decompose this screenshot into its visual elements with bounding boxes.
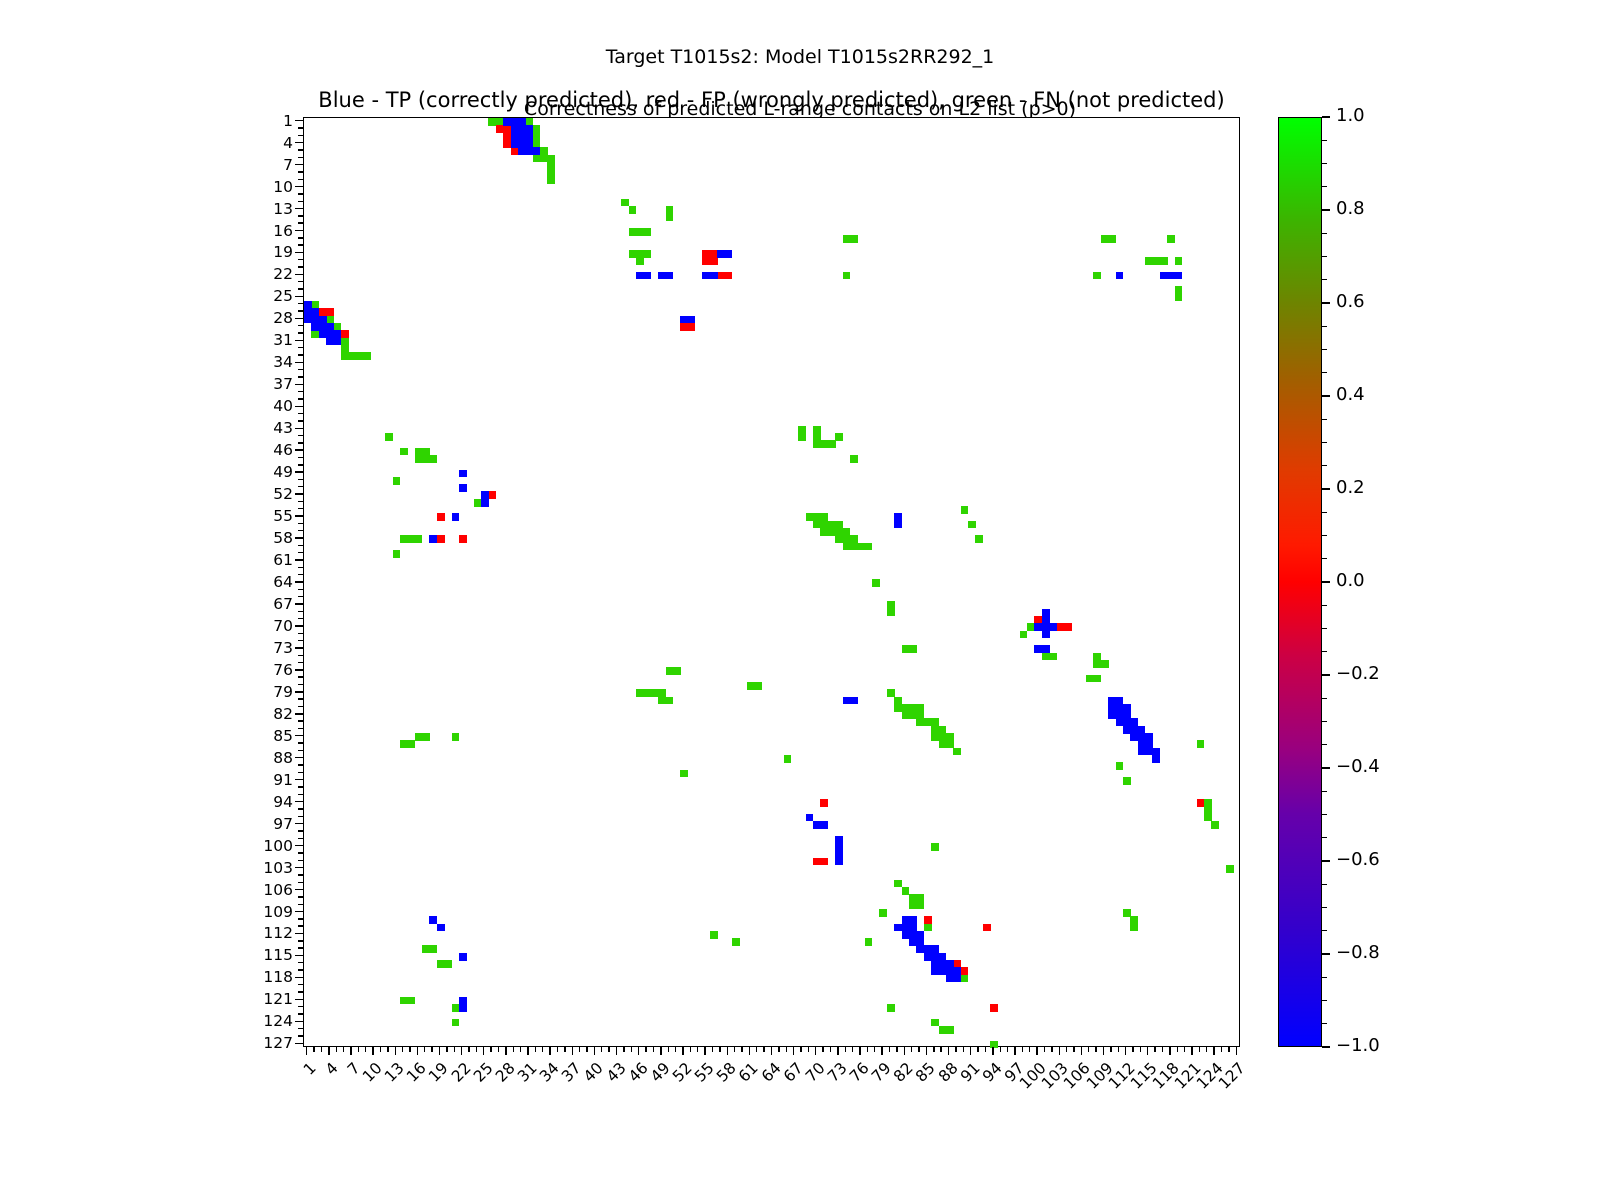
y-axis-label: 118 bbox=[233, 968, 293, 986]
x-tick-39 bbox=[586, 1047, 587, 1052]
contact-cell-fn bbox=[828, 440, 836, 448]
y-axis-label: 79 bbox=[233, 683, 293, 701]
contact-cell-fp bbox=[820, 858, 828, 866]
contact-cell-fn bbox=[422, 733, 430, 741]
colorbar-minor-tick bbox=[1322, 744, 1327, 745]
y-tick-63 bbox=[298, 574, 303, 575]
contact-cell-fn bbox=[415, 535, 423, 543]
x-tick-88 bbox=[948, 1047, 949, 1055]
y-tick-14 bbox=[298, 215, 303, 216]
contact-cell-fn bbox=[643, 250, 651, 258]
contact-cell-fn bbox=[452, 733, 460, 741]
y-axis-label: 22 bbox=[233, 265, 293, 283]
y-tick-6 bbox=[298, 157, 303, 158]
contact-cell-fn bbox=[850, 455, 858, 463]
y-tick-66 bbox=[298, 596, 303, 597]
x-tick-82 bbox=[904, 1047, 905, 1055]
x-tick-30 bbox=[520, 1047, 521, 1052]
x-tick-72 bbox=[830, 1047, 831, 1052]
y-tick-121 bbox=[295, 999, 303, 1000]
contact-cell-fn bbox=[400, 448, 408, 456]
contact-cell-fn bbox=[865, 543, 873, 551]
contact-cell-fn bbox=[754, 682, 762, 690]
x-tick-18 bbox=[431, 1047, 432, 1052]
x-tick-68 bbox=[800, 1047, 801, 1052]
y-tick-117 bbox=[298, 969, 303, 970]
contact-map-plot-area[interactable] bbox=[303, 117, 1240, 1047]
contact-cell-fn bbox=[1020, 631, 1028, 639]
x-tick-15 bbox=[409, 1047, 410, 1052]
y-tick-81 bbox=[298, 706, 303, 707]
y-axis-label: 43 bbox=[233, 419, 293, 437]
y-axis-label: 28 bbox=[233, 309, 293, 327]
y-tick-122 bbox=[298, 1006, 303, 1007]
x-tick-26 bbox=[490, 1047, 491, 1052]
contact-cell-fn bbox=[879, 909, 887, 917]
x-tick-103 bbox=[1059, 1047, 1060, 1055]
y-tick-5 bbox=[298, 149, 303, 150]
contact-cell-fn bbox=[643, 228, 651, 236]
contact-cell-tp bbox=[452, 513, 460, 521]
y-tick-88 bbox=[295, 757, 303, 758]
x-tick-69 bbox=[808, 1047, 809, 1052]
contact-cell-tp bbox=[725, 250, 733, 258]
contact-cells-layer bbox=[304, 118, 1239, 1046]
y-tick-4 bbox=[295, 142, 303, 143]
y-tick-59 bbox=[298, 545, 303, 546]
x-tick-77 bbox=[867, 1047, 868, 1052]
x-tick-73 bbox=[837, 1047, 838, 1055]
y-tick-24 bbox=[298, 288, 303, 289]
x-tick-12 bbox=[387, 1047, 388, 1052]
contact-cell-fp bbox=[1197, 799, 1205, 807]
colorbar-tick bbox=[1322, 953, 1330, 954]
y-tick-36 bbox=[298, 376, 303, 377]
colorbar-minor-tick bbox=[1322, 791, 1327, 792]
x-tick-74 bbox=[845, 1047, 846, 1052]
y-axis-label: 52 bbox=[233, 485, 293, 503]
y-tick-111 bbox=[298, 925, 303, 926]
colorbar-minor-tick bbox=[1322, 930, 1327, 931]
x-tick-86 bbox=[933, 1047, 934, 1052]
x-tick-80 bbox=[889, 1047, 890, 1052]
y-tick-84 bbox=[298, 728, 303, 729]
contact-cell-tp bbox=[1049, 623, 1057, 631]
y-tick-123 bbox=[298, 1013, 303, 1014]
contact-cell-fn bbox=[393, 550, 401, 558]
x-tick-79 bbox=[881, 1047, 882, 1055]
y-tick-86 bbox=[298, 742, 303, 743]
x-tick-13 bbox=[395, 1047, 396, 1055]
contact-cell-tp bbox=[459, 470, 467, 478]
x-tick-6 bbox=[343, 1047, 344, 1052]
colorbar-minor-tick bbox=[1322, 651, 1327, 652]
y-axis-label: 124 bbox=[233, 1012, 293, 1030]
y-tick-97 bbox=[295, 823, 303, 824]
colorbar-minor-tick bbox=[1322, 907, 1327, 908]
y-axis-label: 73 bbox=[233, 639, 293, 657]
colorbar-minor-tick bbox=[1322, 256, 1327, 257]
x-tick-40 bbox=[594, 1047, 595, 1055]
y-tick-30 bbox=[298, 332, 303, 333]
x-tick-37 bbox=[572, 1047, 573, 1055]
contact-cell-fp bbox=[437, 535, 445, 543]
contact-cell-fn bbox=[429, 455, 437, 463]
y-axis-label: 100 bbox=[233, 837, 293, 855]
contact-cell-tp bbox=[850, 697, 858, 705]
y-tick-1 bbox=[295, 120, 303, 121]
y-axis-label: 121 bbox=[233, 990, 293, 1008]
y-tick-26 bbox=[298, 303, 303, 304]
y-tick-87 bbox=[298, 750, 303, 751]
x-tick-91 bbox=[970, 1047, 971, 1055]
x-tick-48 bbox=[653, 1047, 654, 1052]
x-tick-25 bbox=[483, 1047, 484, 1055]
contact-cell-fn bbox=[363, 352, 371, 360]
colorbar-minor-tick bbox=[1322, 512, 1327, 513]
contact-cell-fn bbox=[909, 645, 917, 653]
contact-cell-fn bbox=[931, 843, 939, 851]
y-tick-12 bbox=[298, 201, 303, 202]
colorbar-minor-tick bbox=[1322, 628, 1327, 629]
contact-cell-fp bbox=[961, 967, 969, 975]
colorbar-tick-label: 0.2 bbox=[1336, 477, 1365, 498]
y-tick-108 bbox=[298, 904, 303, 905]
y-axis-label: 97 bbox=[233, 815, 293, 833]
y-tick-38 bbox=[298, 391, 303, 392]
colorbar-minor-tick bbox=[1322, 605, 1327, 606]
x-tick-87 bbox=[940, 1047, 941, 1052]
y-tick-107 bbox=[298, 896, 303, 897]
y-axis-label: 37 bbox=[233, 375, 293, 393]
y-tick-42 bbox=[298, 420, 303, 421]
x-tick-123 bbox=[1206, 1047, 1207, 1052]
y-tick-58 bbox=[295, 537, 303, 538]
y-tick-102 bbox=[298, 860, 303, 861]
y-tick-82 bbox=[295, 713, 303, 714]
y-tick-22 bbox=[295, 274, 303, 275]
x-tick-56 bbox=[712, 1047, 713, 1052]
x-tick-111 bbox=[1118, 1047, 1119, 1052]
y-tick-47 bbox=[298, 457, 303, 458]
x-tick-22 bbox=[461, 1047, 462, 1055]
y-tick-96 bbox=[298, 816, 303, 817]
x-tick-9 bbox=[365, 1047, 366, 1052]
y-tick-76 bbox=[295, 669, 303, 670]
colorbar-minor-tick bbox=[1322, 1000, 1327, 1001]
x-tick-66 bbox=[786, 1047, 787, 1052]
x-tick-2 bbox=[313, 1047, 314, 1052]
contact-cell-fn bbox=[887, 609, 895, 617]
y-axis-label: 127 bbox=[233, 1034, 293, 1052]
contact-cell-tp bbox=[953, 975, 961, 983]
contact-cell-tp bbox=[533, 147, 541, 155]
y-tick-32 bbox=[298, 347, 303, 348]
x-tick-8 bbox=[358, 1047, 359, 1052]
x-tick-76 bbox=[859, 1047, 860, 1055]
contact-cell-fp bbox=[710, 257, 718, 265]
contact-cell-fp bbox=[326, 308, 334, 316]
x-tick-126 bbox=[1228, 1047, 1229, 1052]
contact-cell-fn bbox=[1175, 294, 1183, 302]
x-tick-11 bbox=[380, 1047, 381, 1052]
y-tick-29 bbox=[298, 325, 303, 326]
x-tick-83 bbox=[911, 1047, 912, 1052]
x-tick-120 bbox=[1184, 1047, 1185, 1052]
x-tick-63 bbox=[763, 1047, 764, 1052]
y-tick-101 bbox=[298, 852, 303, 853]
x-tick-109 bbox=[1103, 1047, 1104, 1055]
x-tick-116 bbox=[1154, 1047, 1155, 1052]
y-axis-label: 40 bbox=[233, 397, 293, 415]
y-axis-label: 115 bbox=[233, 946, 293, 964]
y-tick-70 bbox=[295, 625, 303, 626]
y-axis-label: 76 bbox=[233, 661, 293, 679]
contact-cell-fn bbox=[1116, 762, 1124, 770]
colorbar-minor-tick bbox=[1322, 837, 1327, 838]
y-tick-100 bbox=[295, 845, 303, 846]
y-axis-label: 85 bbox=[233, 727, 293, 745]
contact-cell-fn bbox=[680, 770, 688, 778]
contact-cell-fn bbox=[1049, 653, 1057, 661]
contact-cell-fn bbox=[732, 938, 740, 946]
contact-cell-tp bbox=[1042, 631, 1050, 639]
x-tick-90 bbox=[963, 1047, 964, 1052]
x-tick-94 bbox=[992, 1047, 993, 1055]
y-tick-77 bbox=[298, 676, 303, 677]
y-tick-35 bbox=[298, 369, 303, 370]
y-tick-56 bbox=[298, 523, 303, 524]
colorbar-tick bbox=[1322, 395, 1330, 396]
x-tick-97 bbox=[1014, 1047, 1015, 1055]
y-tick-28 bbox=[295, 318, 303, 319]
y-tick-8 bbox=[298, 171, 303, 172]
y-axis-label: 31 bbox=[233, 331, 293, 349]
x-tick-85 bbox=[926, 1047, 927, 1055]
contact-cell-fp bbox=[488, 491, 496, 499]
y-axis-label: 4 bbox=[233, 134, 293, 152]
x-tick-78 bbox=[874, 1047, 875, 1052]
y-axis-label: 13 bbox=[233, 200, 293, 218]
y-tick-92 bbox=[298, 786, 303, 787]
contact-cell-tp bbox=[459, 484, 467, 492]
y-axis-label: 112 bbox=[233, 924, 293, 942]
y-tick-64 bbox=[295, 581, 303, 582]
y-tick-104 bbox=[298, 874, 303, 875]
x-tick-71 bbox=[822, 1047, 823, 1052]
y-axis-label: 46 bbox=[233, 441, 293, 459]
y-tick-91 bbox=[295, 779, 303, 780]
x-tick-81 bbox=[896, 1047, 897, 1052]
contact-cell-fp bbox=[725, 272, 733, 280]
contact-cell-fn bbox=[1123, 777, 1131, 785]
x-tick-36 bbox=[564, 1047, 565, 1052]
x-tick-124 bbox=[1213, 1047, 1214, 1055]
x-tick-3 bbox=[321, 1047, 322, 1052]
y-axis-label: 94 bbox=[233, 793, 293, 811]
x-tick-54 bbox=[697, 1047, 698, 1052]
y-axis-label: 10 bbox=[233, 178, 293, 196]
x-tick-95 bbox=[1000, 1047, 1001, 1052]
contact-cell-tp bbox=[334, 338, 342, 346]
contact-cell-fn bbox=[975, 535, 983, 543]
y-axis-label: 91 bbox=[233, 771, 293, 789]
colorbar-minor-tick bbox=[1322, 233, 1327, 234]
x-tick-98 bbox=[1022, 1047, 1023, 1052]
contact-cell-fn bbox=[1130, 924, 1138, 932]
contact-cell-fn bbox=[1226, 865, 1234, 873]
x-tick-58 bbox=[727, 1047, 728, 1055]
y-tick-19 bbox=[295, 252, 303, 253]
y-tick-18 bbox=[298, 244, 303, 245]
y-tick-33 bbox=[298, 354, 303, 355]
contact-cell-fn bbox=[710, 931, 718, 939]
x-tick-23 bbox=[468, 1047, 469, 1052]
contact-cell-fn bbox=[393, 477, 401, 485]
y-tick-65 bbox=[298, 589, 303, 590]
contact-cell-tp bbox=[835, 858, 843, 866]
y-tick-48 bbox=[298, 464, 303, 465]
y-tick-95 bbox=[298, 808, 303, 809]
contact-cell-fp bbox=[990, 1004, 998, 1012]
y-tick-7 bbox=[295, 164, 303, 165]
x-tick-7 bbox=[350, 1047, 351, 1055]
y-axis-label: 61 bbox=[233, 551, 293, 569]
x-tick-110 bbox=[1110, 1047, 1111, 1052]
colorbar-tick-label: 0.6 bbox=[1336, 291, 1365, 312]
x-tick-105 bbox=[1073, 1047, 1074, 1052]
contact-cell-fn bbox=[407, 740, 415, 748]
y-axis-label: 58 bbox=[233, 529, 293, 547]
contact-cell-fn bbox=[953, 748, 961, 756]
x-tick-92 bbox=[977, 1047, 978, 1052]
x-tick-28 bbox=[505, 1047, 506, 1055]
y-axis-label: 88 bbox=[233, 749, 293, 767]
colorbar-minor-tick bbox=[1322, 349, 1327, 350]
x-tick-43 bbox=[616, 1047, 617, 1055]
y-tick-3 bbox=[298, 135, 303, 136]
y-tick-10 bbox=[295, 186, 303, 187]
suptitle-line-1: Target T1015s2: Model T1015s2RR292_1 bbox=[0, 44, 1600, 70]
y-axis-label: 106 bbox=[233, 881, 293, 899]
y-tick-72 bbox=[298, 640, 303, 641]
y-tick-54 bbox=[298, 508, 303, 509]
colorbar-tick bbox=[1322, 581, 1330, 582]
x-tick-65 bbox=[778, 1047, 779, 1052]
x-tick-38 bbox=[579, 1047, 580, 1052]
contact-cell-fn bbox=[444, 960, 452, 968]
contact-cell-fn bbox=[924, 924, 932, 932]
x-tick-53 bbox=[690, 1047, 691, 1052]
y-tick-17 bbox=[298, 237, 303, 238]
y-tick-46 bbox=[295, 449, 303, 450]
colorbar-minor-tick bbox=[1322, 186, 1327, 187]
y-tick-49 bbox=[295, 471, 303, 472]
y-tick-85 bbox=[295, 735, 303, 736]
x-tick-113 bbox=[1132, 1047, 1133, 1052]
contact-cell-tp bbox=[1116, 272, 1124, 280]
x-tick-52 bbox=[682, 1047, 683, 1055]
colorbar-tick bbox=[1322, 488, 1330, 489]
y-axis-label: 49 bbox=[233, 463, 293, 481]
contact-cell-tp bbox=[688, 316, 696, 324]
colorbar-minor-tick bbox=[1322, 419, 1327, 420]
x-tick-61 bbox=[749, 1047, 750, 1055]
contact-cell-fp bbox=[924, 916, 932, 924]
contact-cell-fn bbox=[673, 667, 681, 675]
y-tick-11 bbox=[298, 193, 303, 194]
contact-cell-fn bbox=[916, 902, 924, 910]
contact-cell-fn bbox=[629, 206, 637, 214]
x-tick-29 bbox=[513, 1047, 514, 1052]
y-axis-label: 67 bbox=[233, 595, 293, 613]
contact-cell-tp bbox=[1175, 272, 1183, 280]
y-tick-2 bbox=[298, 127, 303, 128]
contact-cell-fn bbox=[1175, 257, 1183, 265]
contact-cell-fp bbox=[437, 513, 445, 521]
y-tick-69 bbox=[298, 618, 303, 619]
contact-cell-tp bbox=[481, 499, 489, 507]
x-tick-42 bbox=[608, 1047, 609, 1052]
y-tick-94 bbox=[295, 801, 303, 802]
contact-cell-tp bbox=[459, 953, 467, 961]
y-tick-50 bbox=[298, 479, 303, 480]
y-tick-89 bbox=[298, 764, 303, 765]
colorbar-tick bbox=[1322, 860, 1330, 861]
colorbar-tick-label: −1.0 bbox=[1336, 1035, 1380, 1056]
colorbar-minor-tick bbox=[1322, 372, 1327, 373]
x-tick-21 bbox=[454, 1047, 455, 1052]
contact-cell-tp bbox=[1152, 755, 1160, 763]
x-tick-51 bbox=[675, 1047, 676, 1052]
y-axis-label: 103 bbox=[233, 859, 293, 877]
colorbar-minor-tick bbox=[1322, 698, 1327, 699]
y-axis-label: 19 bbox=[233, 243, 293, 261]
y-tick-13 bbox=[295, 208, 303, 209]
x-tick-112 bbox=[1125, 1047, 1126, 1055]
contact-cell-fn bbox=[784, 755, 792, 763]
y-tick-43 bbox=[295, 428, 303, 429]
colorbar-tick-label: −0.2 bbox=[1336, 663, 1380, 684]
x-tick-107 bbox=[1088, 1047, 1089, 1052]
colorbar-minor-tick bbox=[1322, 326, 1327, 327]
y-tick-114 bbox=[298, 947, 303, 948]
colorbar-tick-label: 0.0 bbox=[1336, 570, 1365, 591]
y-tick-20 bbox=[298, 259, 303, 260]
x-tick-20 bbox=[446, 1047, 447, 1052]
contact-cell-fn bbox=[798, 433, 806, 441]
x-tick-1 bbox=[306, 1047, 307, 1055]
contact-cell-tp bbox=[437, 924, 445, 932]
y-tick-79 bbox=[295, 691, 303, 692]
contact-cell-fn bbox=[385, 433, 393, 441]
x-tick-41 bbox=[601, 1047, 602, 1052]
x-tick-67 bbox=[793, 1047, 794, 1055]
x-tick-55 bbox=[704, 1047, 705, 1055]
y-tick-51 bbox=[298, 486, 303, 487]
contact-cell-fp bbox=[820, 799, 828, 807]
colorbar-tick bbox=[1322, 302, 1330, 303]
colorbar-minor-tick bbox=[1322, 465, 1327, 466]
y-tick-125 bbox=[298, 1028, 303, 1029]
contact-cell-fp bbox=[1064, 623, 1072, 631]
colorbar-tick-label: 0.4 bbox=[1336, 384, 1365, 405]
colorbar-tick bbox=[1322, 1046, 1330, 1047]
x-tick-89 bbox=[955, 1047, 956, 1052]
contact-cell-fn bbox=[968, 521, 976, 529]
colorbar-minor-tick bbox=[1322, 814, 1327, 815]
colorbar-minor-tick bbox=[1322, 535, 1327, 536]
